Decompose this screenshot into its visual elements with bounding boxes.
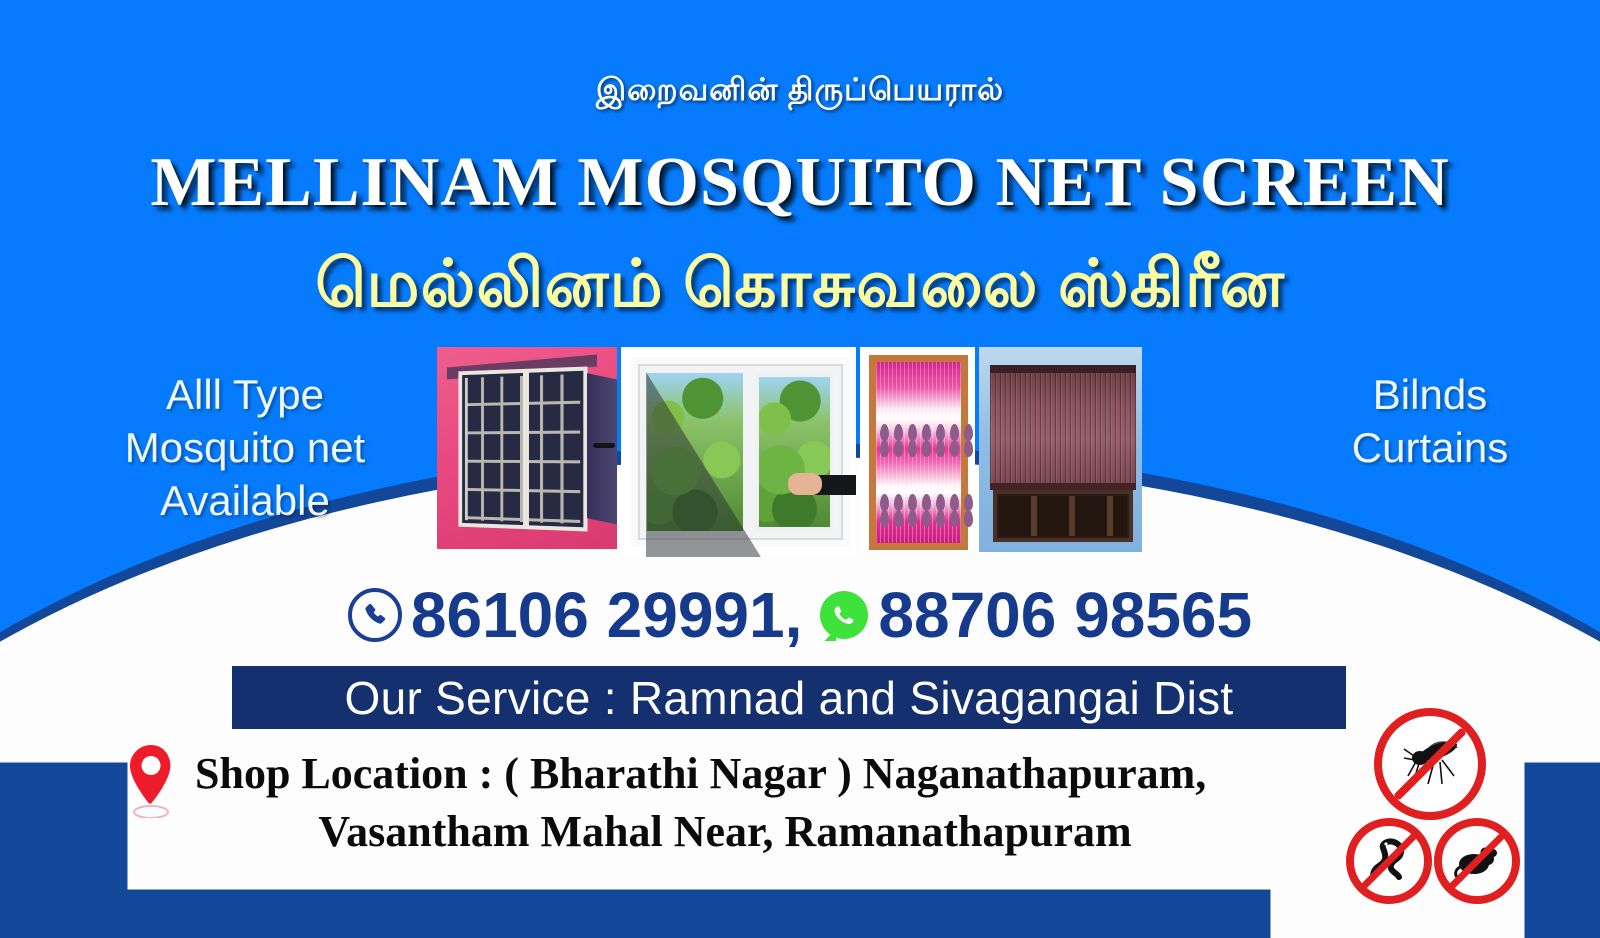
curtain-motif bbox=[908, 510, 917, 527]
left-caption-line-1: Alll Type bbox=[95, 368, 395, 421]
curtain-motif bbox=[922, 494, 931, 511]
curtain-motif bbox=[922, 510, 931, 527]
curtain-motif bbox=[964, 494, 973, 511]
right-caption-line-1: Bilnds bbox=[1280, 368, 1580, 421]
left-caption: Alll Type Mosquito net Available bbox=[95, 368, 395, 527]
no-mosquito-sign bbox=[1374, 708, 1486, 820]
no-rat-sign bbox=[1434, 818, 1520, 904]
contact-row: 86106 29991, 88706 98565 bbox=[0, 578, 1600, 652]
pink-bead-door-curtain-photo bbox=[860, 347, 975, 552]
phone-number[interactable]: 86106 29991, bbox=[411, 578, 803, 652]
tamil-title: மெல்லினம் கொசுவலை ஸ்கிரீன bbox=[0, 245, 1600, 331]
velcro-net-window-photo bbox=[621, 347, 856, 557]
curtain-motif bbox=[950, 494, 959, 511]
curtain-motif bbox=[894, 510, 903, 527]
curtain-motif bbox=[880, 494, 889, 511]
business-card-flyer: இறைவனின் திருப்பெயரால் MELLINAM MOSQUITO… bbox=[0, 0, 1600, 938]
product-gallery bbox=[437, 347, 1142, 552]
curtain-motif bbox=[880, 510, 889, 527]
left-caption-line-2: Mosquito net bbox=[95, 421, 395, 474]
curtain-motif bbox=[950, 424, 959, 441]
curtain-motif bbox=[964, 424, 973, 441]
page-title: MELLINAM MOSQUITO NET SCREEN bbox=[0, 143, 1600, 223]
whatsapp-number[interactable]: 88706 98565 bbox=[878, 578, 1252, 652]
curtain-motif bbox=[908, 440, 917, 457]
curtain-motif bbox=[894, 494, 903, 511]
curtain-motif bbox=[964, 510, 973, 527]
curtain-motif bbox=[964, 440, 973, 457]
phone-icon bbox=[348, 588, 402, 642]
location-pin-icon bbox=[120, 742, 182, 818]
right-caption-line-2: Curtains bbox=[1280, 421, 1580, 474]
no-snake-sign bbox=[1346, 818, 1432, 904]
curtain-motif bbox=[950, 440, 959, 457]
curtain-motif bbox=[936, 440, 945, 457]
right-caption: Bilnds Curtains bbox=[1280, 368, 1580, 474]
curtain-motif bbox=[922, 424, 931, 441]
curtain-motif bbox=[950, 510, 959, 527]
address-line-1: Shop Location : ( Bharathi Nagar ) Nagan… bbox=[195, 745, 1375, 803]
tamil-blessing-text: இறைவனின் திருப்பெயரால் bbox=[0, 72, 1600, 112]
window-grille-with-net-photo bbox=[437, 347, 617, 549]
curtain-motif bbox=[908, 424, 917, 441]
curtain-motif bbox=[880, 424, 889, 441]
curtain-motif bbox=[936, 510, 945, 527]
service-banner: Our Service : Ramnad and Sivagangai Dist bbox=[232, 666, 1346, 729]
curtain-motif bbox=[936, 424, 945, 441]
curtain-motif bbox=[908, 494, 917, 511]
bamboo-roller-blind-photo bbox=[979, 347, 1142, 552]
left-caption-line-3: Available bbox=[95, 474, 395, 527]
curtain-motif bbox=[936, 494, 945, 511]
whatsapp-icon bbox=[820, 591, 868, 639]
curtain-motif bbox=[894, 424, 903, 441]
curtain-motif bbox=[894, 440, 903, 457]
curtain-motif bbox=[922, 440, 931, 457]
shop-address: Shop Location : ( Bharathi Nagar ) Nagan… bbox=[195, 745, 1375, 861]
address-line-2: Vasantham Mahal Near, Ramanathapuram bbox=[195, 803, 1375, 861]
curtain-motif bbox=[880, 440, 889, 457]
service-banner-text: Our Service : Ramnad and Sivagangai Dist bbox=[345, 671, 1234, 725]
